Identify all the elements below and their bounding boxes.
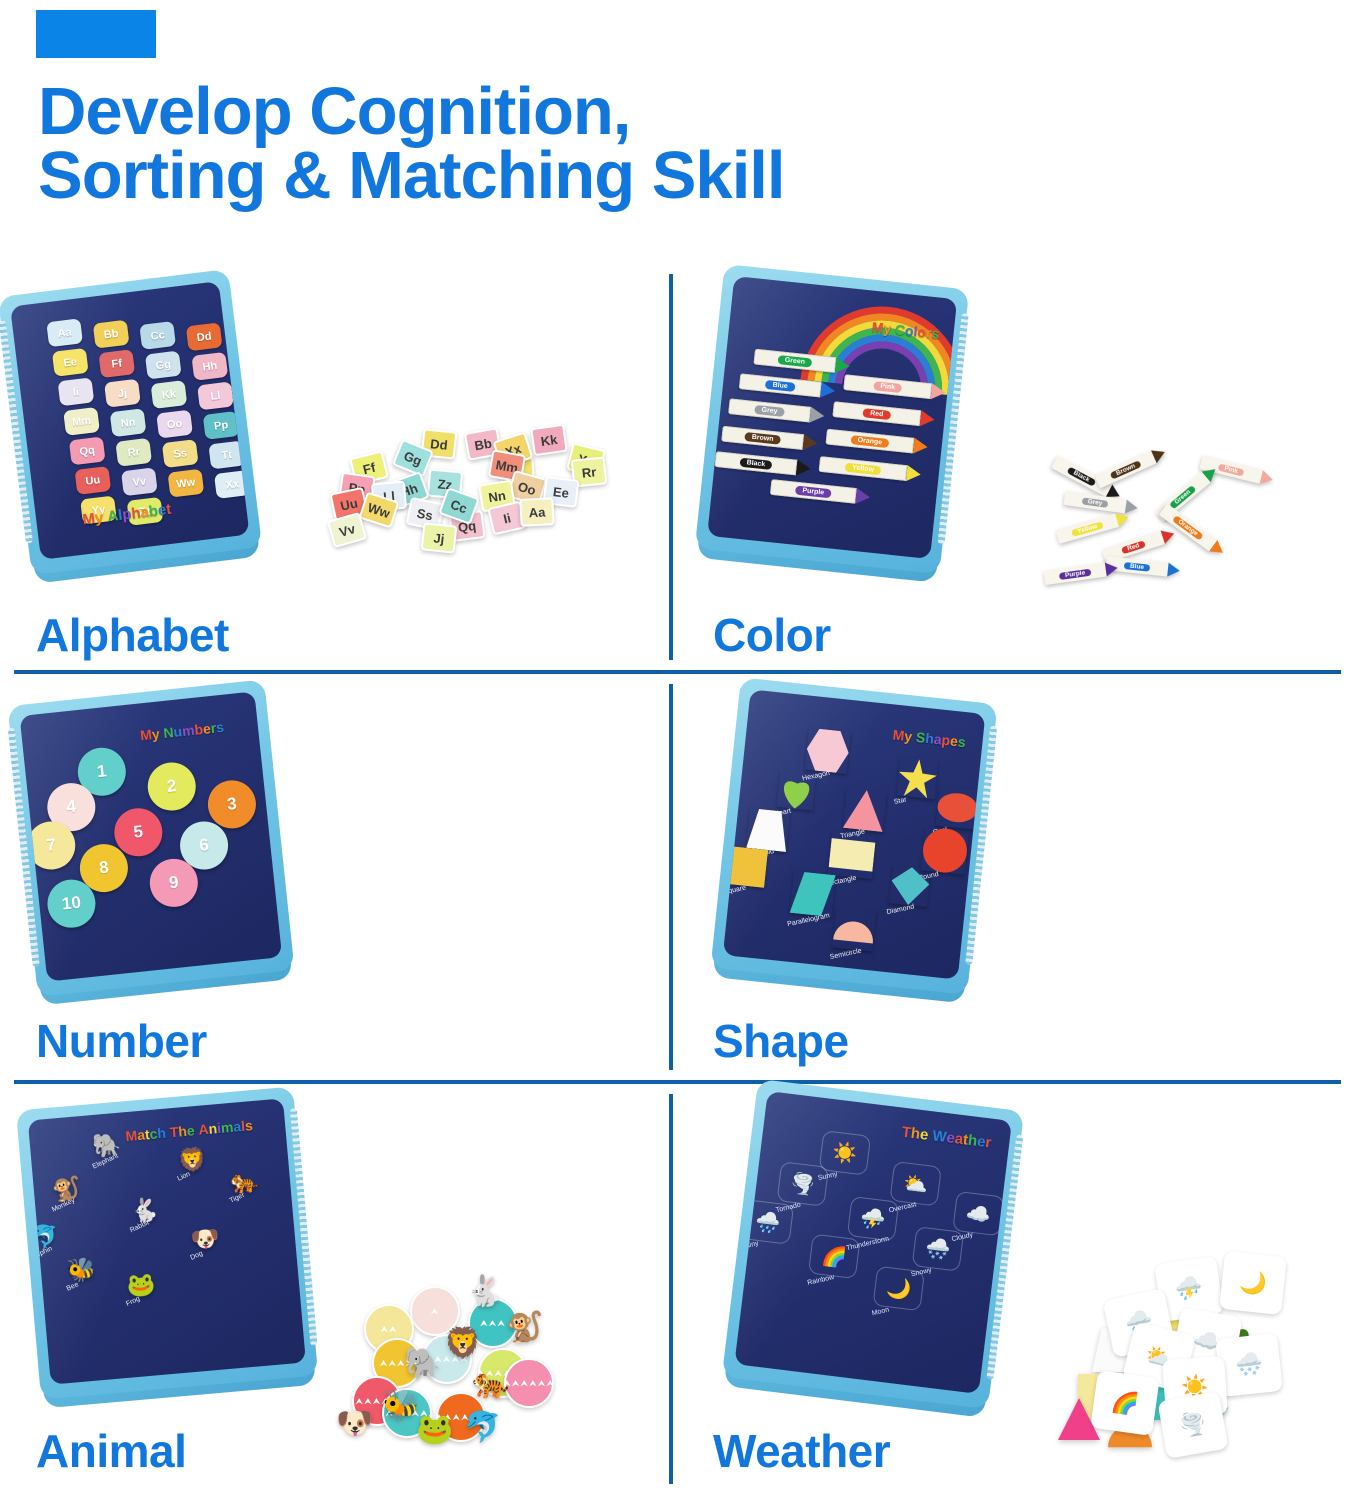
page-title: Develop Cognition, Sorting & Matching Sk… <box>38 80 1138 207</box>
panel-number: 12345678910 My Numbers ⮝⮝⮝⮝⮝⮝⮝⮝⮝⮝⮝⮝⮝⮝⮝⮝⮝… <box>0 674 669 1076</box>
alphabet-tile-gg: Gg <box>145 351 182 380</box>
animal-tiger: 🐅 <box>229 1167 260 1196</box>
feature-grid: AaBbCcDdEeFfGgHhIiJjKkLlMmNnOoPpQqRrSsTt… <box>0 268 1355 1500</box>
panel-label-animal: Animal <box>36 1424 186 1478</box>
loose-animal-rabbit[interactable]: 🐇 <box>466 1274 503 1309</box>
loose-weather-card-tornado[interactable]: 🌪️ <box>1157 1391 1228 1459</box>
loose-animal-bee[interactable]: 🐝 <box>382 1388 419 1423</box>
shape-star <box>896 757 938 799</box>
loose-animal-elephant[interactable]: 🐘 <box>404 1346 441 1381</box>
alphabet-tile-kk: Kk <box>151 380 188 409</box>
weather-rainbow: 🌈 <box>808 1234 861 1280</box>
animal-book-cover: 🐘Elephant🦁Lion🐒Monkey🐅Tiger🐇Rabbit🐬Dolph… <box>28 1098 306 1384</box>
weather-cloudy: ☁️ <box>952 1191 1005 1237</box>
shape-oval <box>936 786 980 830</box>
alphabet-book: AaBbCcDdEeFfGgHhIiJjKkLlMmNnOoPpQqRrSsTt… <box>0 269 262 575</box>
color-book-cover: GreenBlueGreyBrownBlackPinkRedOrangeYell… <box>707 276 957 559</box>
alphabet-tile-rr: Rr <box>115 438 152 467</box>
shape-trapezoid <box>746 808 790 852</box>
animal-dog: 🐶 <box>190 1224 221 1253</box>
alphabet-tile-mm: Mm <box>63 407 100 436</box>
loose-crayon-brown[interactable]: Brown <box>1094 446 1167 489</box>
shape-triangle <box>843 788 887 832</box>
loose-weather-card-rainbow[interactable]: 🌈 <box>1090 1370 1159 1436</box>
alphabet-tile-ss: Ss <box>162 439 199 468</box>
panel-weather: ☀️Sunny⛅Overcast☁️Cloudy🌪️Tornado⛈️Thund… <box>673 1084 1342 1486</box>
alphabet-tile-jj: Jj <box>104 379 141 408</box>
shape-parallelogram <box>790 871 836 917</box>
shape-diamond <box>889 865 931 907</box>
animal-lion: 🦁 <box>177 1145 208 1174</box>
panel-label-color: Color <box>713 608 831 662</box>
alphabet-tile-hh: Hh <box>191 352 228 381</box>
alphabet-tile-oo: Oo <box>156 410 193 439</box>
loose-animal-dog[interactable]: 🐶 <box>336 1406 373 1441</box>
alphabet-tile-ll: Ll <box>197 381 234 410</box>
number-book: 12345678910 My Numbers <box>7 679 294 996</box>
weather-overcast: ⛅ <box>889 1161 942 1207</box>
shape-square <box>726 846 768 888</box>
animal-book: 🐘Elephant🦁Lion🐒Monkey🐅Tiger🐇Rabbit🐬Dolph… <box>16 1086 318 1399</box>
alphabet-tile-ii: Ii <box>58 377 95 406</box>
shape-book: HexagonStarHeartTriangleOvalTrapezoidRec… <box>710 677 997 994</box>
animal-bee: 🐝 <box>66 1255 97 1284</box>
alphabet-tile-pp: Pp <box>203 411 240 440</box>
loose-alphabet-tile-vv[interactable]: Vv <box>327 512 367 548</box>
panel-label-shape: Shape <box>713 1014 849 1068</box>
panel-label-number: Number <box>36 1014 207 1068</box>
animal-frog: 🐸 <box>125 1270 156 1299</box>
loose-animal-monkey[interactable]: 🐒 <box>506 1310 543 1345</box>
panel-animal: 🐘Elephant🦁Lion🐒Monkey🐅Tiger🐇Rabbit🐬Dolph… <box>0 1084 669 1486</box>
loose-animal-tiger[interactable]: 🐅 <box>472 1366 509 1401</box>
weather-sunny: ☀️ <box>819 1130 872 1176</box>
alphabet-book-cover: AaBbCcDdEeFfGgHhIiJjKkLlMmNnOoPpQqRrSsTt… <box>10 281 250 560</box>
panel-alphabet: AaBbCcDdEeFfGgHhIiJjKkLlMmNnOoPpQqRrSsTt… <box>0 268 669 670</box>
panel-shape: HexagonStarHeartTriangleOvalTrapezoidRec… <box>673 674 1342 1076</box>
panel-label-weather: Weather <box>713 1424 890 1478</box>
loose-crayon-yellow[interactable]: Yellow <box>1056 510 1131 544</box>
accent-square <box>36 10 156 58</box>
weather-snowy: 🌨️ <box>912 1226 965 1272</box>
weather-tornado: 🌪️ <box>777 1161 830 1207</box>
color-book: GreenBlueGreyBrownBlackPinkRedOrangeYell… <box>695 264 970 574</box>
alphabet-tile-cc: Cc <box>139 321 176 350</box>
alphabet-tile-ee: Ee <box>52 348 89 377</box>
alphabet-tile-aa: Aa <box>46 318 83 347</box>
weather-moon: 🌙 <box>873 1266 926 1312</box>
loose-animal-frog[interactable]: 🐸 <box>416 1412 453 1447</box>
loose-crayon-purple[interactable]: Purple <box>1043 561 1118 585</box>
shape-hexagon <box>805 728 851 774</box>
loose-alphabet-tile-kk[interactable]: Kk <box>530 424 568 456</box>
alphabet-tile-qq: Qq <box>69 436 106 465</box>
alphabet-tile-nn: Nn <box>110 408 147 437</box>
page-title-line-2: Sorting & Matching Skill <box>38 144 1138 208</box>
shape-semicircle <box>832 908 876 952</box>
alphabet-tile-vv: Vv <box>121 467 158 496</box>
alphabet-tile-dd: Dd <box>186 322 223 351</box>
number-book-cover: 12345678910 My Numbers <box>20 691 283 981</box>
shape-round <box>921 826 969 874</box>
panel-label-alphabet: Alphabet <box>36 608 229 662</box>
panel-color: GreenBlueGreyBrownBlackPinkRedOrangeYell… <box>673 268 1342 670</box>
alphabet-tile-bb: Bb <box>93 320 130 349</box>
weather-book: ☀️Sunny⛅Overcast☁️Cloudy🌪️Tornado⛈️Thund… <box>722 1079 1025 1409</box>
shape-book-cover: HexagonStarHeartTriangleOvalTrapezoidRec… <box>723 689 986 979</box>
alphabet-tile-ww: Ww <box>167 469 204 498</box>
alphabet-tile-uu: Uu <box>74 466 111 495</box>
shape-rectangle <box>828 831 876 879</box>
loose-alphabet-tile-aa[interactable]: Aa <box>519 497 554 527</box>
shape-heart <box>777 771 817 811</box>
alphabet-tile-ff: Ff <box>98 349 135 378</box>
loose-weather-card-moon[interactable]: 🌙 <box>1219 1251 1287 1315</box>
weather-thunderstorm: ⛈️ <box>847 1196 900 1242</box>
weather-book-cover: ☀️Sunny⛅Overcast☁️Cloudy🌪️Tornado⛈️Thund… <box>734 1091 1012 1394</box>
loose-animal-lion[interactable]: 🦁 <box>444 1326 481 1361</box>
loose-animal-dolphin[interactable]: 🐬 <box>464 1410 501 1445</box>
loose-alphabet-tile-jj[interactable]: Jj <box>421 522 458 553</box>
